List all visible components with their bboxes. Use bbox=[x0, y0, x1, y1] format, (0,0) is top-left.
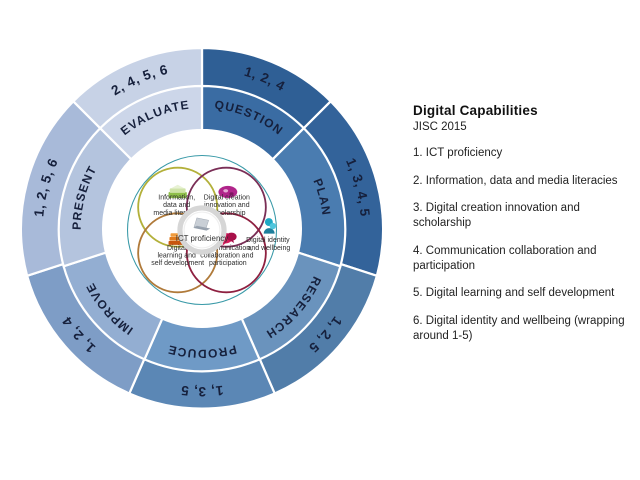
list-item: 6. Digital identity and wellbeing (wrapp… bbox=[413, 314, 628, 343]
person-cyan-icon bbox=[264, 218, 276, 234]
panel-title: Digital Capabilities bbox=[413, 103, 628, 118]
list-item: 2. Information, data and media literacie… bbox=[413, 174, 628, 189]
capabilities-list: 1. ICT proficiency 2. Information, data … bbox=[413, 146, 628, 343]
list-item: 3. Digital creation innovation and schol… bbox=[413, 201, 628, 230]
list-item: 5. Digital learning and self development bbox=[413, 286, 628, 301]
list-item: 1. ICT proficiency bbox=[413, 146, 628, 161]
panel-subtitle: JISC 2015 bbox=[413, 121, 628, 133]
list-item: 4. Communication collaboration and parti… bbox=[413, 244, 628, 273]
venn-diagram: Information, data and media literacies D… bbox=[128, 156, 292, 305]
legend-panel: Digital Capabilities JISC 2015 1. ICT pr… bbox=[413, 103, 628, 356]
digital-capabilities-wheel: 1, 2, 4 1, 3, 4, 5 1, 2, 5 1, 3, 5 1, 2,… bbox=[20, 48, 384, 412]
outer-label-produce: 1, 3, 5 bbox=[180, 383, 224, 399]
venn-hub-ict-proficiency[interactable]: ICT proficiency bbox=[176, 208, 229, 252]
diagram-canvas: 1, 2, 4 1, 3, 4, 5 1, 2, 5 1, 3, 5 1, 2,… bbox=[0, 0, 640, 480]
inner-segment-produce[interactable] bbox=[145, 319, 260, 372]
venn-label-digital-identity: Digital identity and wellbeing bbox=[246, 237, 291, 252]
hub-label: ICT proficiency bbox=[176, 234, 229, 243]
wheel-svg: 1, 2, 4 1, 3, 4, 5 1, 2, 5 1, 3, 5 1, 2,… bbox=[20, 48, 384, 412]
